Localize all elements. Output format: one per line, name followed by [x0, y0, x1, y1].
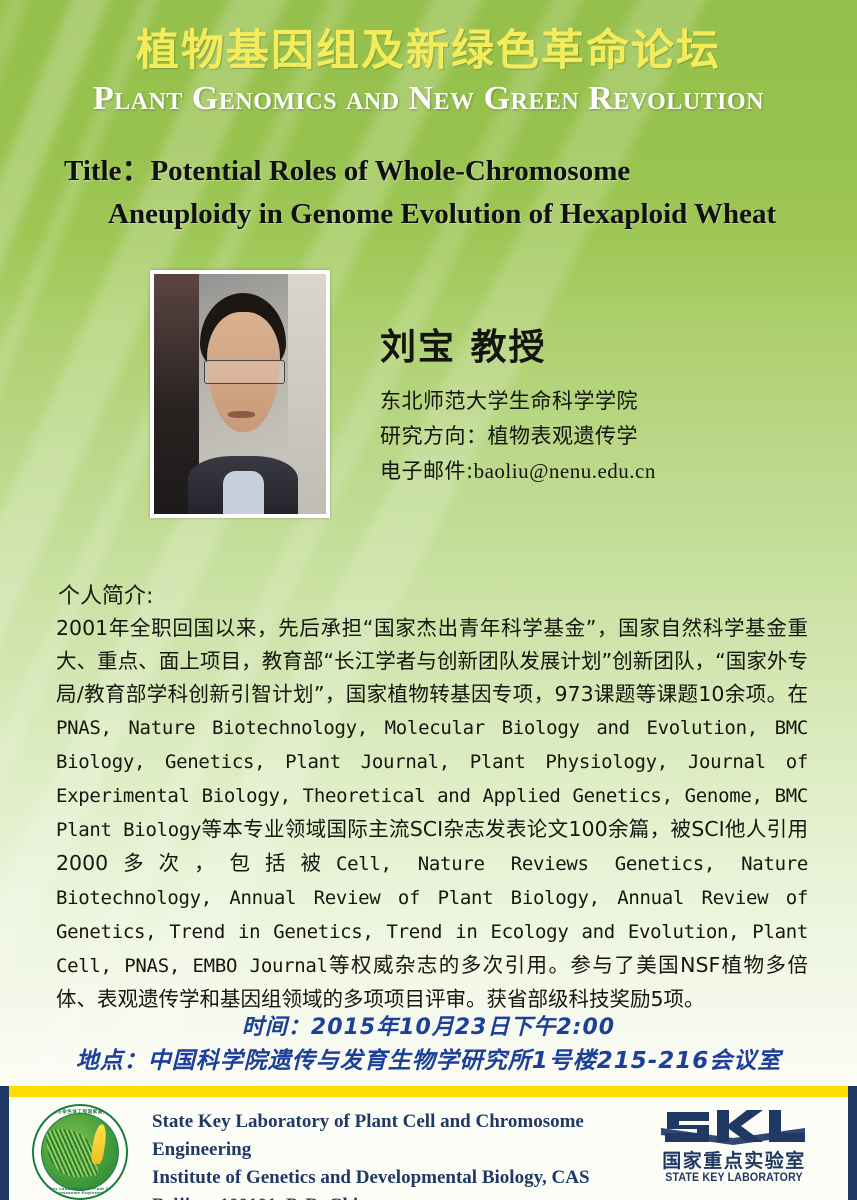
- talk-title: Title：Potential Roles of Whole-Chromosom…: [46, 150, 836, 236]
- speaker-affiliation: 东北师范大学生命科学学院: [380, 384, 800, 419]
- lab-logo-emblem: [41, 1113, 119, 1191]
- speaker-email-label: 电子邮件:: [380, 459, 474, 483]
- skl-logo: 国家重点实验室 STATE KEY LABORATORY: [659, 1104, 809, 1196]
- footer-city-line: Beijing, 100101, P. R. China: [152, 1192, 672, 1200]
- bio-paragraph: 2001年全职回国以来，先后承担“国家杰出青年科学基金”，国家自然科学基金重大、…: [56, 612, 808, 1016]
- bio-heading: 个人简介:: [58, 578, 153, 610]
- seminar-poster: 植物基因组及新绿色革命论坛 Plant Genomics and New Gre…: [0, 0, 857, 1200]
- header-english-title: Plant Genomics and New Green Revolution: [0, 80, 857, 118]
- footer-institute-name: Institute of Genetics and Developmental …: [152, 1164, 672, 1192]
- speaker-email-row: 电子邮件:baoliu@nenu.edu.cn: [380, 454, 800, 489]
- portrait-shirt: [223, 471, 264, 514]
- speaker-portrait-image: [154, 274, 326, 514]
- skl-wordmark-icon: [659, 1104, 809, 1150]
- speaker-research-field: 研究方向：植物表观遗传学: [380, 419, 800, 454]
- poster-header: 植物基因组及新绿色革命论坛 Plant Genomics and New Gre…: [0, 0, 857, 140]
- yellow-divider-bar: [0, 1086, 857, 1097]
- talk-title-line-1: Title：Potential Roles of Whole-Chromosom…: [46, 150, 836, 193]
- event-venue: 地点：中国科学院遗传与发育生物学研究所1号楼215-216会议室: [0, 1044, 857, 1078]
- footer-address-block: State Key Laboratory of Plant Cell and C…: [152, 1108, 672, 1200]
- footer-right-edge-bar: [848, 1086, 857, 1200]
- lab-circular-logo: 植物细胞与染色体工程国家重点实验室 State Key Laboratory o…: [32, 1104, 128, 1200]
- portrait-mouth: [228, 411, 256, 418]
- footer-left-edge-bar: [0, 1086, 9, 1200]
- portrait-glasses: [204, 360, 285, 384]
- speaker-info-block: 刘宝 教授 东北师范大学生命科学学院 研究方向：植物表观遗传学 电子邮件:bao…: [380, 318, 800, 489]
- speaker-email-address: baoliu@nenu.edu.cn: [474, 459, 656, 483]
- speaker-photo-frame: [150, 270, 330, 518]
- bio-text-part-1: 2001年全职回国以来，先后承担“国家杰出青年科学基金”，国家自然科学基金重大、…: [56, 616, 808, 706]
- speaker-name: 刘宝 教授: [380, 318, 800, 370]
- skl-english-label: STATE KEY LABORATORY: [665, 1172, 803, 1184]
- talk-title-line-2: Aneuploidy in Genome Evolution of Hexapl…: [46, 193, 836, 236]
- footer-lab-name: State Key Laboratory of Plant Cell and C…: [152, 1108, 672, 1164]
- wheat-icon: [90, 1123, 108, 1164]
- header-chinese-title: 植物基因组及新绿色革命论坛: [0, 16, 857, 78]
- skl-chinese-label: 国家重点实验室: [659, 1150, 809, 1172]
- lab-logo-arc-text-english: State Key Laboratory of Plant Cell and C…: [34, 1187, 126, 1195]
- event-time: 时间：2015年10月23日下午2:00: [0, 1012, 857, 1044]
- event-details: 时间：2015年10月23日下午2:00 地点：中国科学院遗传与发育生物学研究所…: [0, 1012, 857, 1078]
